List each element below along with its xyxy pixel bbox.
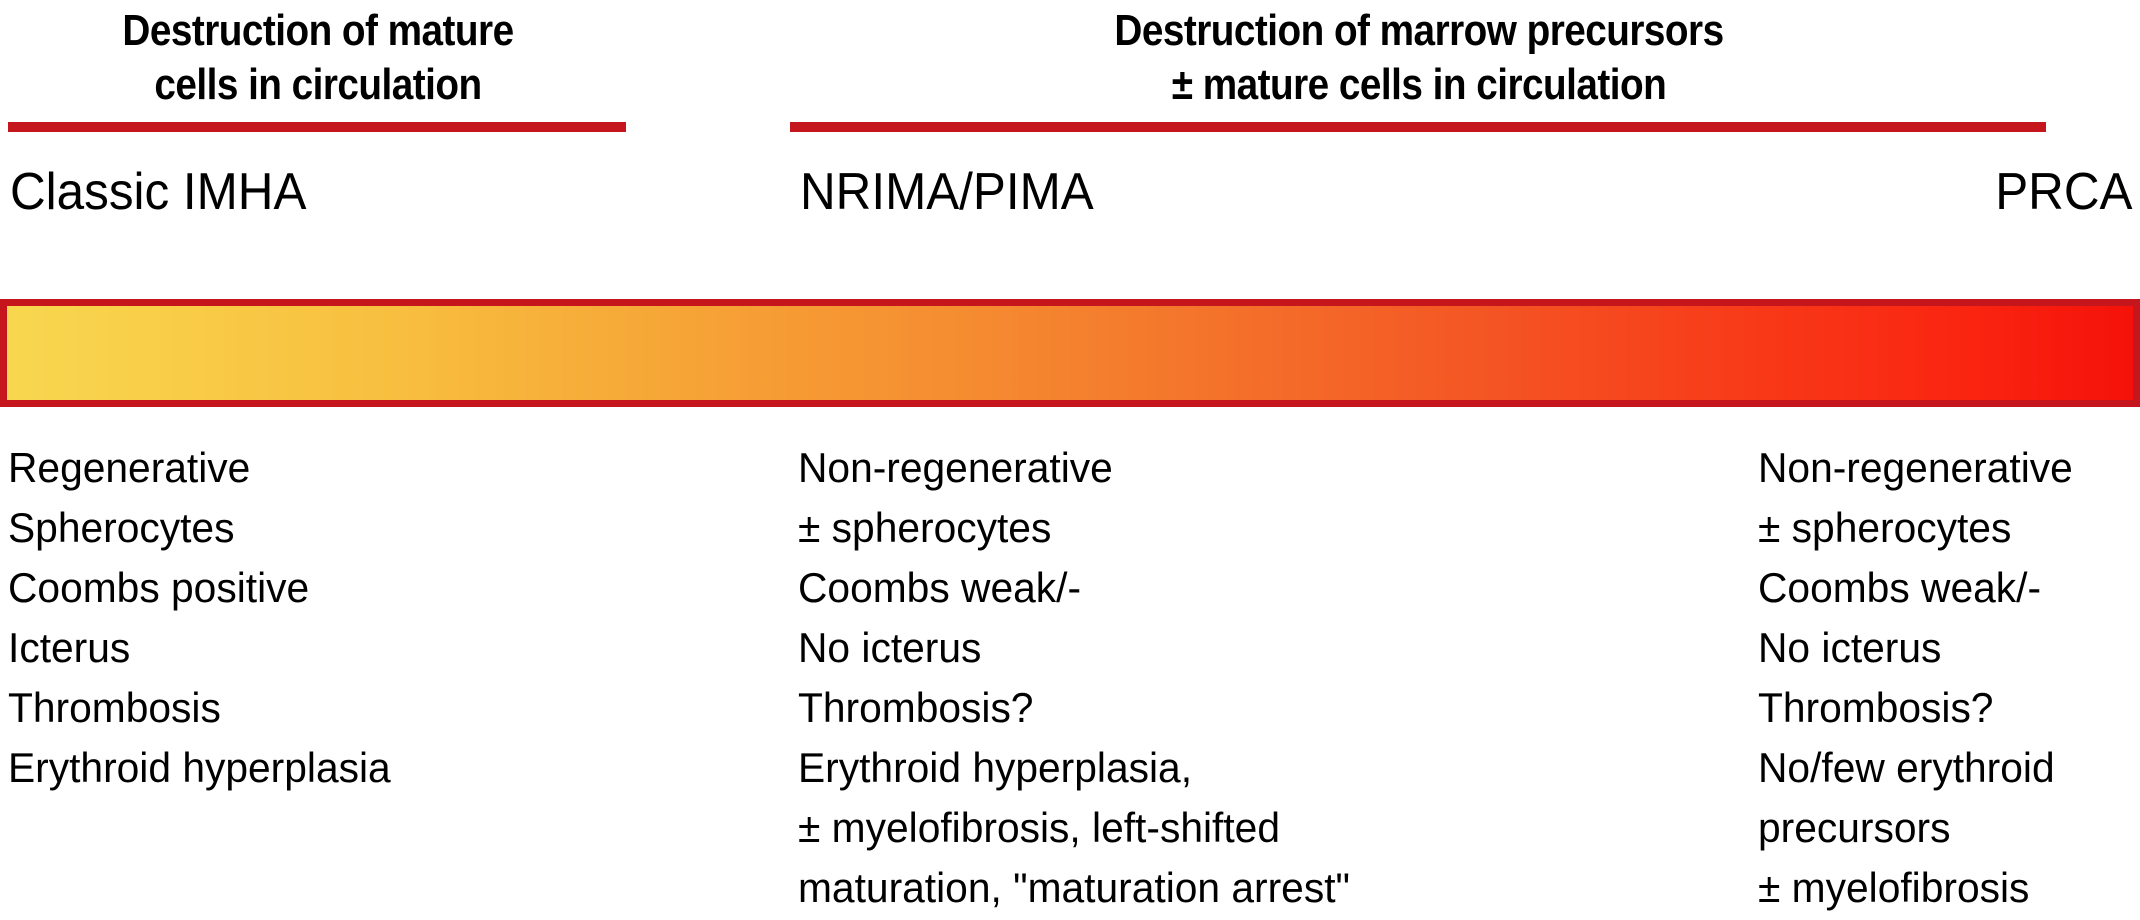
- feature-line: No/few erythroid: [1758, 738, 2129, 798]
- feature-line: Icterus: [8, 618, 745, 678]
- entity-name-row: Classic IMHA NRIMA/PIMA PRCA: [0, 160, 2140, 240]
- feature-line: Coombs positive: [8, 558, 745, 618]
- feature-line: Thrombosis?: [798, 678, 1700, 738]
- feature-line: Coombs weak/-: [1758, 558, 2129, 618]
- feature-line: Non-regenerative: [1758, 438, 2129, 498]
- header-group-right: Destruction of marrow precursors ± matur…: [790, 0, 2048, 112]
- feature-column-prca: Non-regenerative ± spherocytes Coombs we…: [1758, 438, 2140, 918]
- feature-line: Regenerative: [8, 438, 745, 498]
- header-group-left: Destruction of mature cells in circulati…: [8, 0, 628, 112]
- feature-line: precursors: [1758, 798, 2129, 858]
- feature-line: Thrombosis: [8, 678, 745, 738]
- immune-anemia-spectrum-figure: Destruction of mature cells in circulati…: [0, 0, 2140, 920]
- feature-line: Erythroid hyperplasia: [8, 738, 745, 798]
- header-underline-left: [8, 122, 626, 132]
- header-underline-right: [790, 122, 2046, 132]
- feature-line: maturation, "maturation arrest": [798, 858, 1700, 918]
- feature-column-classic-imha: Regenerative Spherocytes Coombs positive…: [8, 438, 768, 798]
- feature-line: ± myelofibrosis, left-shifted: [798, 798, 1700, 858]
- feature-line: Spherocytes: [8, 498, 745, 558]
- header-band: Destruction of mature cells in circulati…: [0, 0, 2140, 150]
- entity-label-prca: PRCA: [1995, 160, 2132, 224]
- feature-line: ± spherocytes: [798, 498, 1700, 558]
- feature-line: ± myelofibrosis: [1758, 858, 2129, 918]
- header-title-left: Destruction of mature cells in circulati…: [45, 0, 591, 112]
- feature-line: Non-regenerative: [798, 438, 1700, 498]
- entity-label-nrima-pima: NRIMA/PIMA: [800, 160, 1094, 224]
- entity-label-classic-imha: Classic IMHA: [10, 160, 306, 224]
- feature-line: Thrombosis?: [1758, 678, 2129, 738]
- header-title-right: Destruction of marrow precursors ± matur…: [865, 0, 1972, 112]
- feature-line: No icterus: [798, 618, 1700, 678]
- feature-line: Coombs weak/-: [798, 558, 1700, 618]
- feature-line: Erythroid hyperplasia,: [798, 738, 1700, 798]
- feature-line: ± spherocytes: [1758, 498, 2129, 558]
- severity-gradient-bar: [0, 299, 2140, 407]
- feature-column-nrima-pima: Non-regenerative ± spherocytes Coombs we…: [798, 438, 1728, 918]
- feature-columns: Regenerative Spherocytes Coombs positive…: [0, 438, 2140, 920]
- feature-line: No icterus: [1758, 618, 2129, 678]
